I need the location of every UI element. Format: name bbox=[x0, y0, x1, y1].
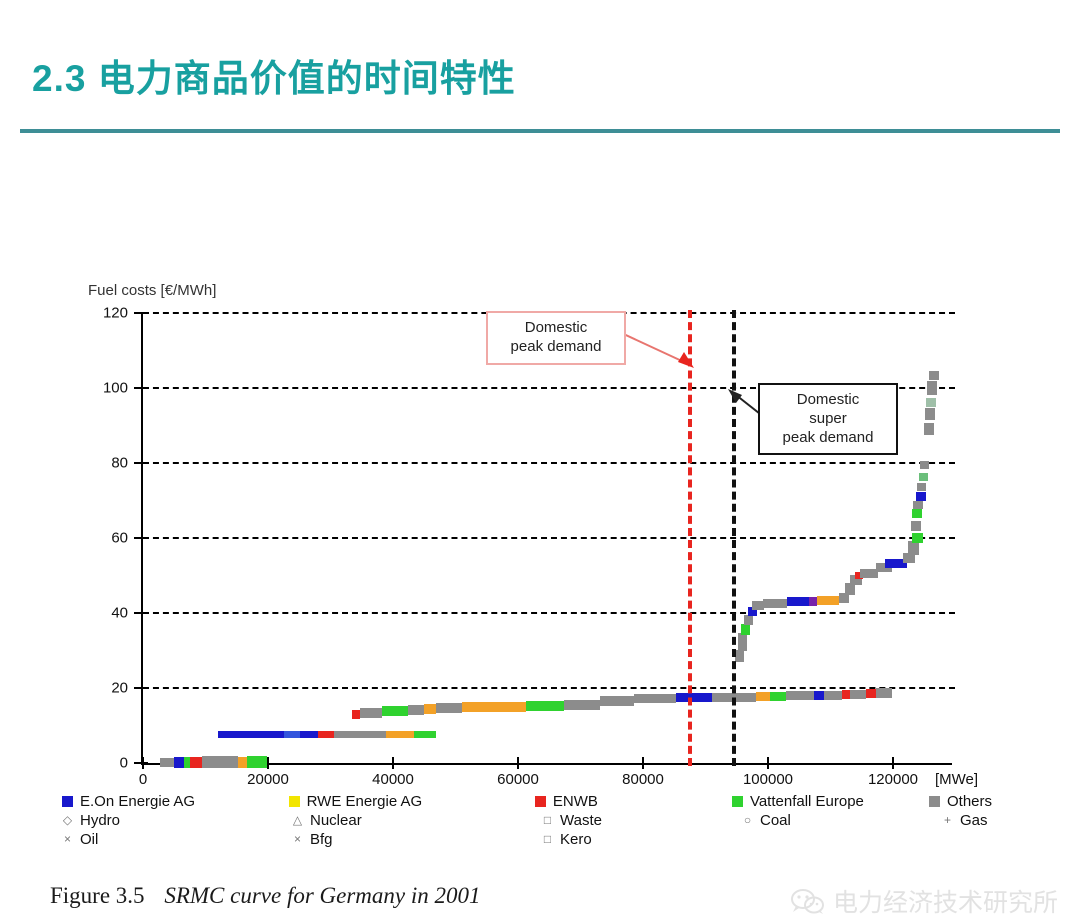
legend-label-vattenfall: Vattenfall Europe bbox=[750, 793, 864, 810]
title-divider bbox=[20, 129, 1060, 133]
legend-item-bfg: × Bfg bbox=[292, 831, 542, 848]
watermark: 电力经济技术研究所 bbox=[791, 883, 1058, 919]
callout-superpeak-line-1: Domestic bbox=[770, 391, 886, 410]
legend-label-kero: Kero bbox=[560, 831, 592, 848]
legend-row-utilities: E.On Energie AG RWE Energie AG ENWB Vatt… bbox=[62, 793, 992, 810]
legend-item-waste: □ Waste bbox=[542, 812, 742, 829]
callout-superpeak-line-2: super bbox=[770, 410, 886, 429]
filled-square-icon bbox=[732, 796, 743, 807]
srmc-segment-coal bbox=[352, 688, 892, 719]
legend-label-rwe: RWE Energie AG bbox=[307, 793, 423, 810]
legend-item-coal: ○ Coal bbox=[742, 812, 942, 829]
legend-label-hydro: Hydro bbox=[80, 812, 120, 829]
circle-icon: ○ bbox=[742, 815, 753, 826]
srmc-chart-figure: Fuel costs [€/MWh] 120 100 80 60 40 20 0… bbox=[0, 135, 1080, 810]
legend-label-bfg: Bfg bbox=[310, 831, 333, 848]
plot-area: Fuel costs [€/MWh] 120 100 80 60 40 20 0… bbox=[0, 135, 1080, 655]
legend-item-kero: □ Kero bbox=[542, 831, 742, 848]
filled-square-icon bbox=[62, 796, 73, 807]
callout-peak-line-2: peak demand bbox=[498, 338, 614, 357]
legend-item-oil: × Oil bbox=[62, 831, 292, 848]
legend-item-rwe: RWE Energie AG bbox=[289, 793, 535, 810]
domestic-super-peak-demand-callout: Domestic super peak demand bbox=[758, 383, 898, 455]
page-title: 2.3 电力商品价值的时间特性 bbox=[32, 48, 516, 102]
legend-item-others: Others bbox=[929, 793, 992, 810]
figure-caption: Figure 3.5 SRMC curve for Germany in 200… bbox=[50, 883, 481, 909]
legend-item-eon: E.On Energie AG bbox=[62, 793, 289, 810]
legend-label-nuclear: Nuclear bbox=[310, 812, 362, 829]
cross-icon: × bbox=[292, 834, 303, 845]
domestic-super-peak-demand-line bbox=[732, 310, 736, 766]
legend-item-nuclear: △ Nuclear bbox=[292, 812, 542, 829]
chart-legend: E.On Energie AG RWE Energie AG ENWB Vatt… bbox=[62, 793, 992, 850]
callout-peak-line-1: Domestic bbox=[498, 319, 614, 338]
filled-square-icon bbox=[929, 796, 940, 807]
legend-label-others: Others bbox=[947, 793, 992, 810]
open-square-icon: □ bbox=[542, 815, 553, 826]
legend-label-waste: Waste bbox=[560, 812, 602, 829]
legend-item-enwb: ENWB bbox=[535, 793, 732, 810]
filled-square-icon bbox=[289, 796, 300, 807]
figure-caption-number: Figure 3.5 bbox=[50, 883, 145, 908]
legend-row-fuels-1: ◇ Hydro △ Nuclear □ Waste ○ Coal + Gas bbox=[62, 812, 992, 829]
legend-label-eon: E.On Energie AG bbox=[80, 793, 195, 810]
figure-caption-text: SRMC curve for Germany in 2001 bbox=[164, 883, 480, 908]
legend-item-vattenfall: Vattenfall Europe bbox=[732, 793, 929, 810]
srmc-curve bbox=[0, 135, 1080, 810]
callout-superpeak-line-3: peak demand bbox=[770, 429, 886, 448]
srmc-segment-oil-peakers bbox=[911, 371, 939, 531]
watermark-text: 电力经济技术研究所 bbox=[833, 883, 1058, 919]
triangle-icon: △ bbox=[292, 815, 303, 826]
srmc-segment-gas bbox=[735, 533, 923, 662]
legend-label-gas: Gas bbox=[960, 812, 988, 829]
open-square-icon: □ bbox=[542, 834, 553, 845]
legend-item-hydro: ◇ Hydro bbox=[62, 812, 292, 829]
diamond-icon: ◇ bbox=[62, 815, 73, 826]
domestic-peak-demand-callout: Domestic peak demand bbox=[486, 311, 626, 365]
legend-row-fuels-2: × Oil × Bfg □ Kero bbox=[62, 831, 992, 848]
legend-label-enwb: ENWB bbox=[553, 793, 598, 810]
wechat-icon bbox=[791, 888, 825, 915]
srmc-segment-zero-cost bbox=[160, 756, 267, 768]
plus-icon: + bbox=[942, 815, 953, 826]
srmc-segment-nuclear bbox=[218, 731, 436, 738]
legend-item-gas: + Gas bbox=[942, 812, 988, 829]
legend-label-oil: Oil bbox=[80, 831, 98, 848]
legend-label-coal: Coal bbox=[760, 812, 791, 829]
cross-icon: × bbox=[62, 834, 73, 845]
filled-square-icon bbox=[535, 796, 546, 807]
domestic-peak-demand-line bbox=[688, 310, 692, 766]
